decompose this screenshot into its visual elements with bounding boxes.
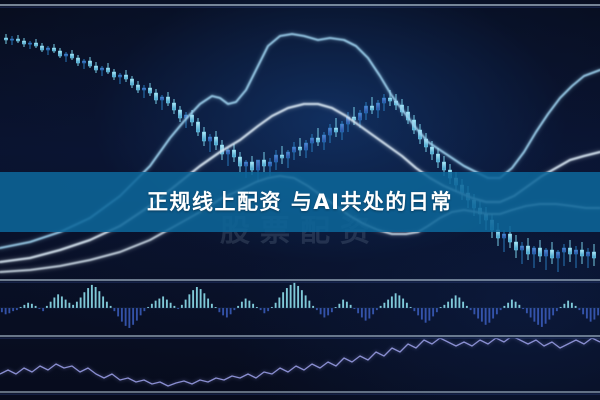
banner-title: 正规线上配资 与AI共处的日常 bbox=[147, 192, 453, 213]
stock-chart-banner-image: 股票配资 正规线上配资 与AI共处的日常 bbox=[0, 0, 600, 400]
macd-histogram-series bbox=[0, 283, 600, 328]
headline-banner: 正规线上配资 与AI共处的日常 bbox=[0, 172, 600, 232]
indicator-line-series bbox=[0, 336, 600, 386]
